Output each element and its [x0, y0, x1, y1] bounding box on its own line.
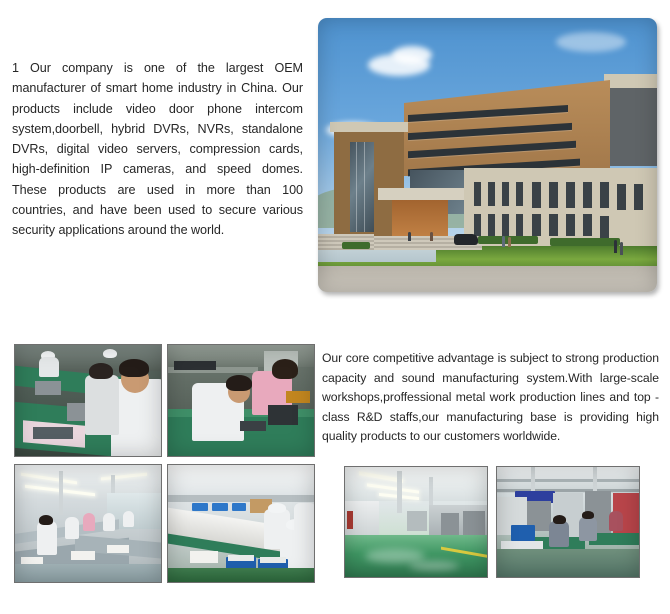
core-advantage-text: Our core competitive advantage is subjec…	[322, 349, 659, 447]
building-scene	[318, 18, 657, 292]
image-vignette	[497, 467, 639, 577]
company-introduction-text: 1 Our company is one of the largest OEM …	[12, 58, 303, 241]
photo-green-epoxy-workshop	[344, 466, 488, 578]
photo-assembly-bench-inspection	[14, 344, 162, 457]
metal-work-line-scene	[497, 467, 639, 577]
company-headquarters-building-image	[318, 18, 657, 292]
image-vignette	[318, 18, 657, 292]
assembly-line-scene	[168, 465, 314, 582]
image-vignette	[168, 345, 314, 456]
photo-metal-work-production-line	[496, 466, 640, 578]
factory-floor-scene	[15, 465, 161, 582]
soldering-station-scene	[168, 345, 314, 456]
photo-factory-floor-workshop	[14, 464, 162, 583]
image-vignette	[15, 345, 161, 456]
image-vignette	[345, 467, 487, 577]
workshop-aisle-scene	[345, 467, 487, 577]
image-vignette	[15, 465, 161, 582]
photo-assembly-line-bins	[167, 464, 315, 583]
image-vignette	[168, 465, 314, 582]
photo-soldering-station	[167, 344, 315, 457]
assembly-bench-scene	[15, 345, 161, 456]
